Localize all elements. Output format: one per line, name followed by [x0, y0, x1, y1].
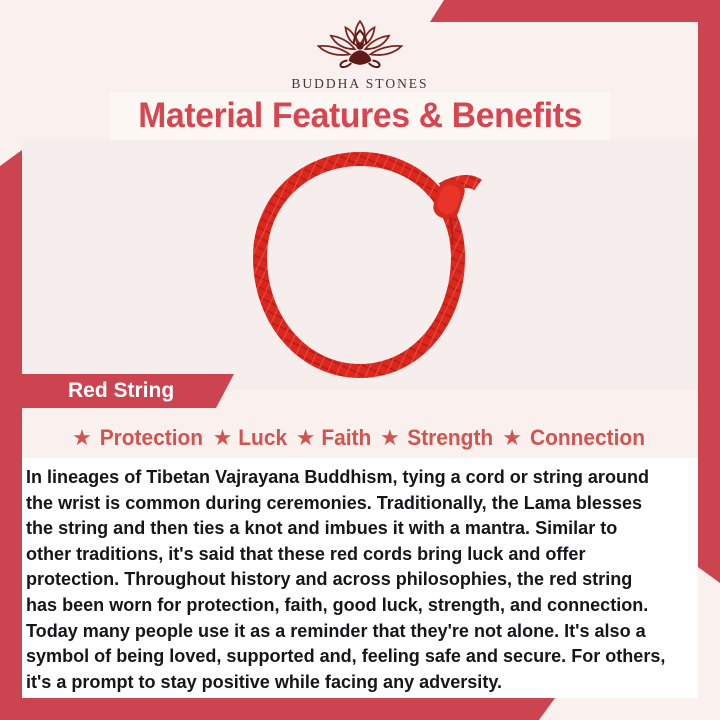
benefit-item-protection: ★ Protection	[72, 425, 206, 451]
frame-band-bottom	[0, 698, 555, 720]
brand-logo: BUDDHA STONES	[0, 16, 720, 92]
benefits-row: ★ Protection ★ Luck ★ Faith ★ Strength ★…	[22, 420, 698, 456]
frame-band-left	[0, 150, 22, 720]
benefit-label: Strength	[407, 425, 493, 451]
lotus-meditation-icon	[308, 16, 412, 72]
red-braided-cord-bracelet	[220, 145, 500, 385]
benefit-item-faith: ★ Faith	[296, 425, 373, 451]
infographic-page: BUDDHA STONES Material Features & Benefi…	[0, 0, 720, 720]
product-label-banner: Red String	[22, 374, 234, 408]
benefit-item-strength: ★ Strength	[380, 425, 495, 451]
page-title: Material Features & Benefits	[138, 96, 582, 136]
benefit-item-connection: ★ Connection	[502, 425, 648, 451]
benefit-label: Protection	[100, 425, 203, 451]
product-image-area	[22, 140, 698, 390]
star-icon: ★	[296, 427, 316, 449]
description-panel: In lineages of Tibetan Vajrayana Buddhis…	[22, 458, 698, 698]
page-title-banner: Material Features & Benefits	[110, 92, 610, 140]
benefit-label: Faith	[322, 425, 372, 451]
benefit-label: Connection	[530, 425, 645, 451]
star-icon: ★	[213, 427, 233, 449]
brand-name: BUDDHA STONES	[291, 76, 428, 92]
description-text: In lineages of Tibetan Vajrayana Buddhis…	[26, 464, 666, 694]
star-icon: ★	[72, 427, 92, 449]
benefit-label: Luck	[239, 425, 288, 451]
product-label: Red String	[68, 379, 174, 403]
benefit-item-luck: ★ Luck	[213, 425, 289, 451]
star-icon: ★	[380, 427, 400, 449]
star-icon: ★	[502, 427, 522, 449]
